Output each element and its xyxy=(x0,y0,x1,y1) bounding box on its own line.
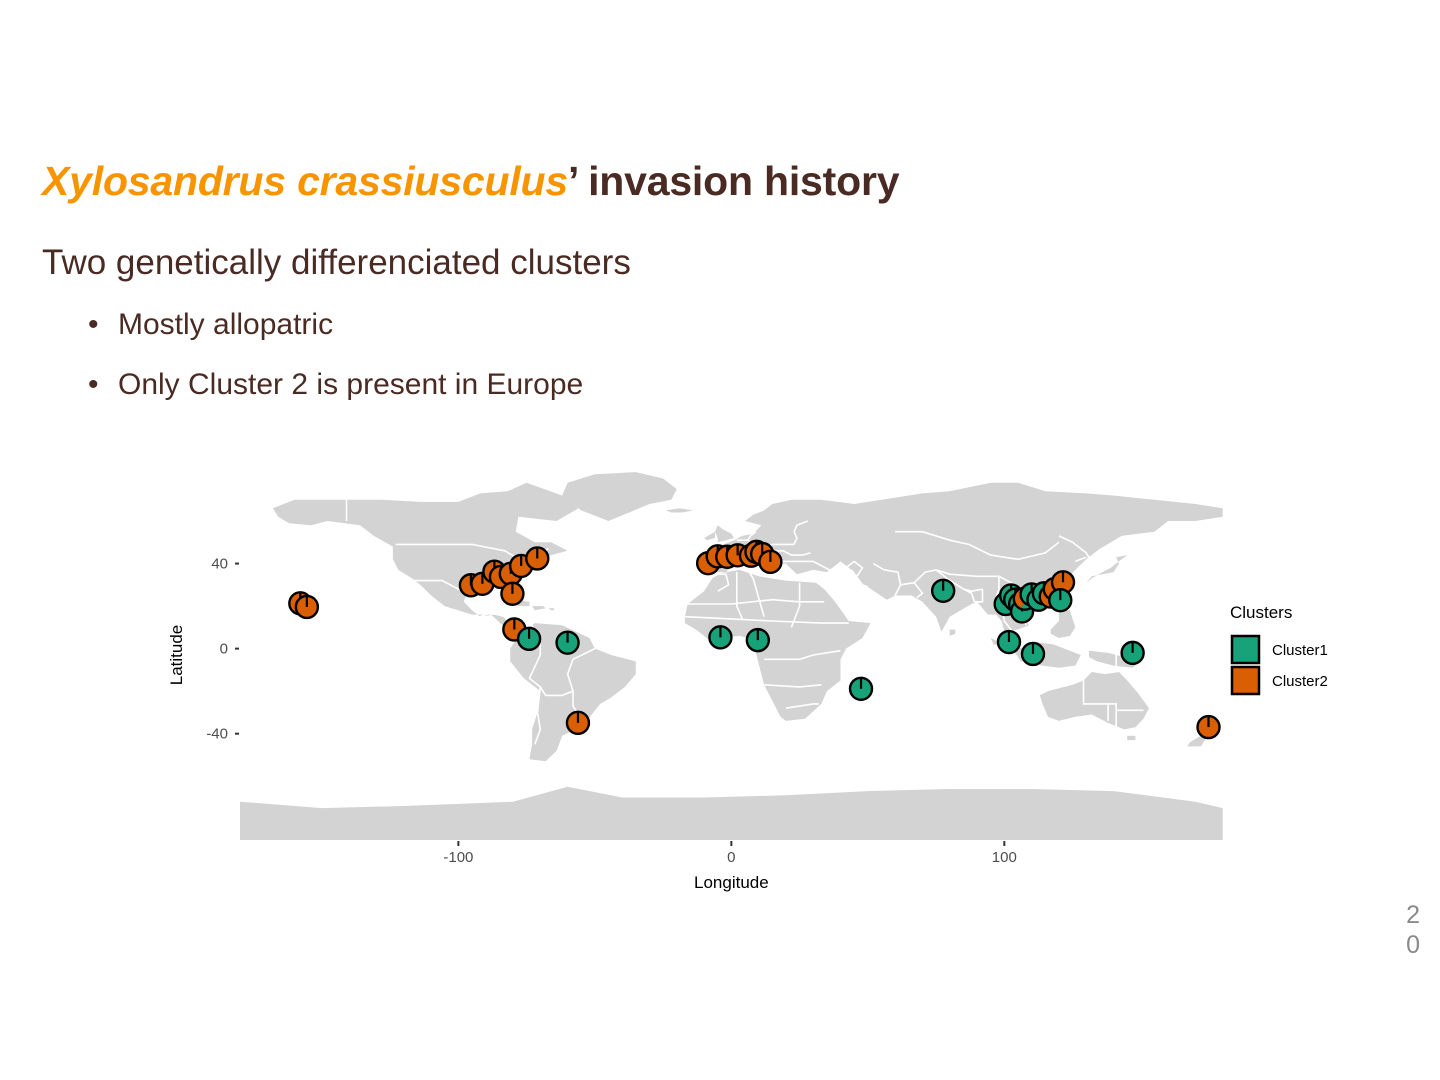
pie-marker xyxy=(1122,642,1144,664)
pie-marker xyxy=(296,596,318,618)
world-map-chart: 400-40-1000100LongitudeLatitude Clusters… xyxy=(90,460,1400,900)
landmass-shape xyxy=(950,630,956,636)
legend-swatch xyxy=(1232,667,1259,694)
title-suffix: ’ invasion history xyxy=(568,158,899,204)
landmass-shape xyxy=(532,606,546,610)
legend-label: Cluster1 xyxy=(1272,642,1328,659)
landmass-shape xyxy=(240,787,1223,840)
pie-marker xyxy=(501,583,523,605)
chart-legend: ClustersCluster1Cluster2 xyxy=(1230,603,1328,694)
pie-marker xyxy=(1049,589,1071,611)
landmass-shape xyxy=(549,608,554,610)
x-axis-tick-label: 100 xyxy=(992,849,1017,866)
basemap-layer xyxy=(240,472,1223,840)
species-name: Xylosandrus crassiusculus xyxy=(42,158,568,204)
x-axis-tick-label: -100 xyxy=(443,849,473,866)
bullet-marker-icon: • xyxy=(88,305,118,345)
pie-marker xyxy=(557,632,579,654)
landmass-shape xyxy=(1051,610,1076,638)
pie-marker xyxy=(759,551,781,573)
bullet-list: • Mostly allopatric • Only Cluster 2 is … xyxy=(88,305,988,425)
landmass-shape xyxy=(1040,672,1149,729)
page-title: Xylosandrus crassiusculus’ invasion hist… xyxy=(42,158,899,205)
landmass-shape xyxy=(666,508,693,512)
y-axis-tick-label: 40 xyxy=(211,556,228,573)
x-axis-tick-label: 0 xyxy=(727,849,735,866)
pie-marker xyxy=(747,629,769,651)
pie-marker xyxy=(709,626,731,648)
pie-marker xyxy=(850,678,872,700)
subtitle: Two genetically differenciated clusters xyxy=(42,243,631,283)
landmass-shape xyxy=(562,472,677,521)
page-number: 20 xyxy=(1394,900,1420,960)
pie-marker xyxy=(567,712,589,734)
pie-marker xyxy=(998,631,1020,653)
y-axis-tick-label: -40 xyxy=(206,726,228,743)
y-axis-title: Latitude xyxy=(167,625,186,686)
list-item: • Mostly allopatric xyxy=(88,305,988,345)
list-item-label: Only Cluster 2 is present in Europe xyxy=(118,365,583,405)
landmass-shape xyxy=(704,532,715,541)
pie-marker xyxy=(526,547,548,569)
pie-marker xyxy=(1198,716,1220,738)
legend-swatch xyxy=(1232,636,1259,663)
chart-svg: 400-40-1000100LongitudeLatitude Clusters… xyxy=(90,460,1400,900)
landmass-shape xyxy=(1086,555,1127,583)
pie-marker xyxy=(932,580,954,602)
legend-label: Cluster2 xyxy=(1272,673,1328,690)
x-axis-title: Longitude xyxy=(694,873,769,892)
bullet-marker-icon: • xyxy=(88,365,118,405)
landmass-shape xyxy=(1127,736,1135,740)
y-axis-tick-label: 0 xyxy=(220,641,228,658)
pie-marker xyxy=(1022,643,1044,665)
legend-title: Clusters xyxy=(1230,603,1292,622)
pie-marker xyxy=(518,628,540,650)
landmass-shape xyxy=(715,525,734,542)
list-item: • Only Cluster 2 is present in Europe xyxy=(88,365,988,405)
list-item-label: Mostly allopatric xyxy=(118,305,333,345)
